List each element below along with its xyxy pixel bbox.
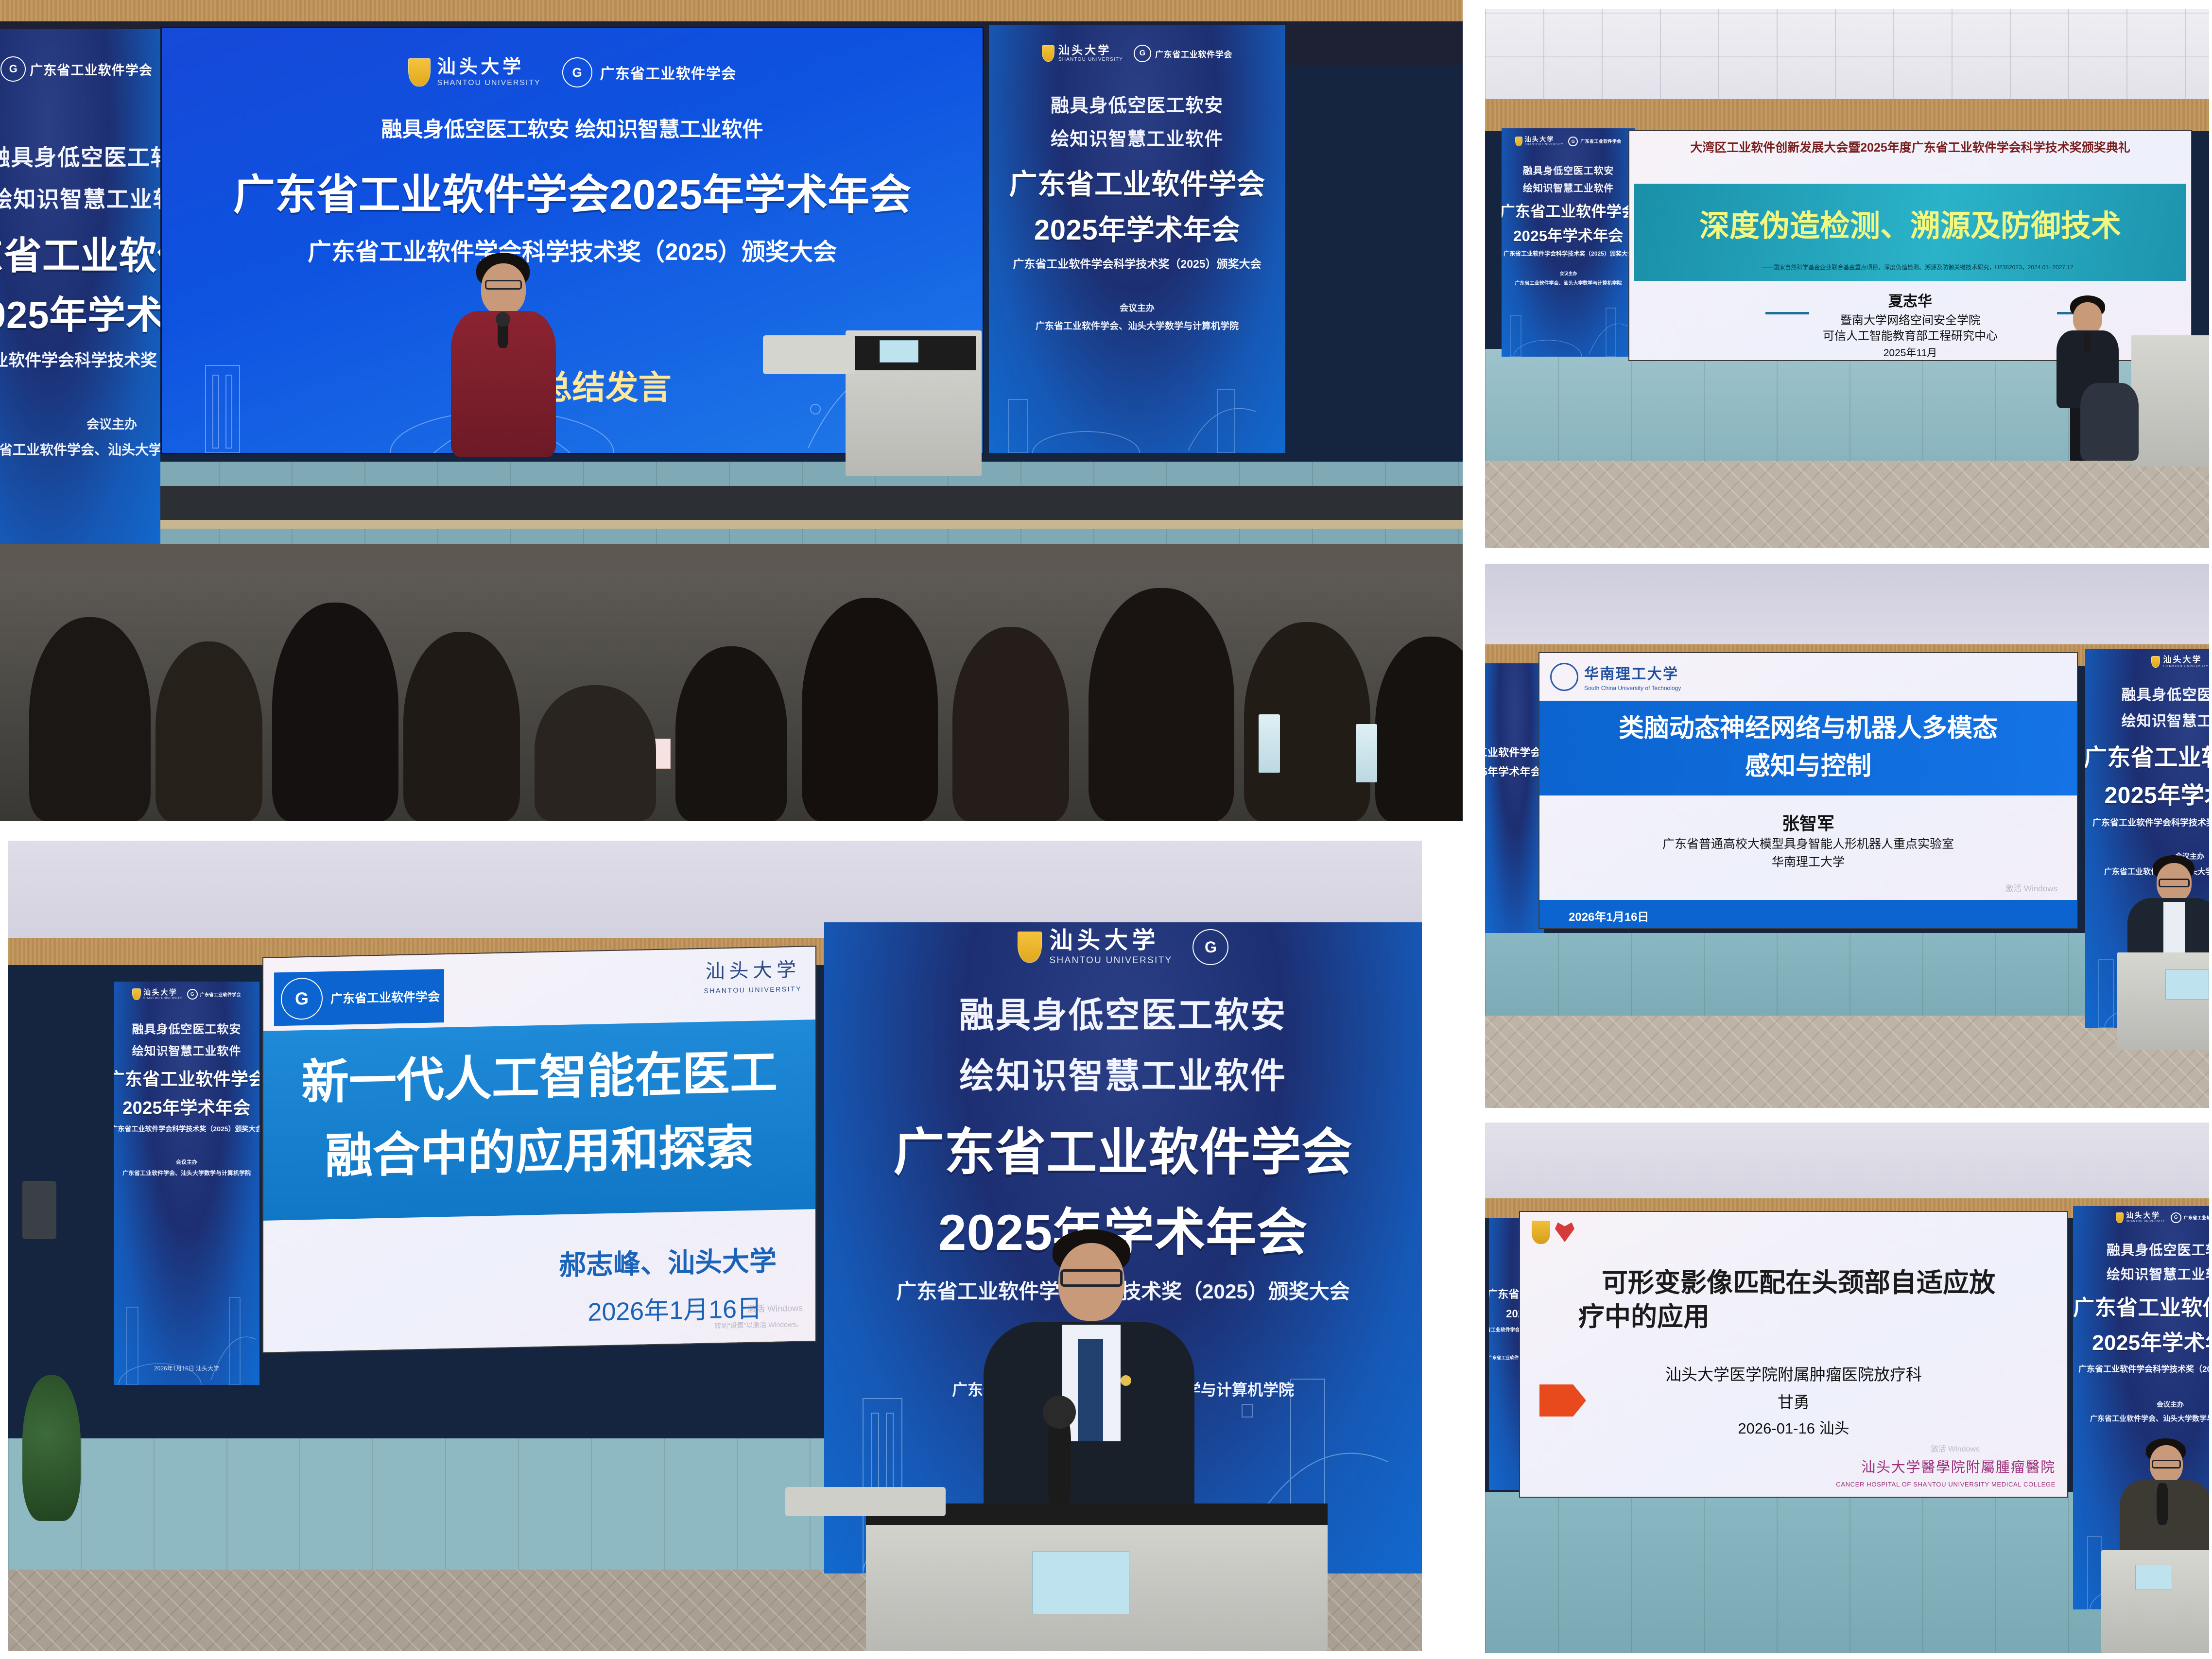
university-name-en: SHANTOU UNIVERSITY (704, 985, 802, 995)
shantou-logo: 汕头大学 SHANTOU UNIVERSITY (704, 954, 802, 995)
shantou-crest-icon (1042, 45, 1054, 62)
university-name-en: SHANTOU UNIVERSITY (143, 997, 182, 1000)
banner-title-2: 2025年学术年会 (122, 1094, 250, 1119)
scut-logo: 华南理工大学 South China University of Technol… (1550, 662, 1681, 691)
society-name: 广东省工业软件学会 (2184, 1214, 2209, 1221)
banner-subtitle: 广东省工业软件学会科学技术奖（2025）颁奖大会 (1013, 255, 1261, 271)
banner-title-1: 广东省工业软件学会 (1009, 161, 1265, 202)
slide-footnote: ——国家自然科学基金企业联合基金重点项目，深度伪造检测、溯源及防御关键技术研究，… (1663, 263, 2172, 271)
lectern-crest (2165, 969, 2209, 1000)
photo-deepfake-talk: 汕头大学 SHANTOU UNIVERSITY G 广东省工业软件学会 融具身低… (1485, 9, 2209, 548)
banner-slogan-2: 绘知识智慧工业软件 (2107, 1264, 2209, 1283)
lectern-crest (2135, 1565, 2172, 1590)
slide-speaker-name: 甘勇 (1520, 1389, 2067, 1413)
society-name: 广东省工业软件学会 (600, 62, 737, 83)
banner-slogan-2: 绘知识智慧工业软件 (2122, 709, 2209, 730)
banner-left: 汕头大学 SHANTOU UNIVERSITY G 广东省工业软件学会 融具身低… (114, 982, 259, 1385)
banner-host-label: 会议主办 (1120, 301, 1155, 314)
speaker-person (447, 253, 559, 457)
banner-title-1: 广东省工业软件学会 (1502, 199, 1635, 221)
photo-radiotherapy-talk: 广东省工业软件学会 2025年学术年会 广东省工业软件学会科学技术奖（2025）… (1485, 1123, 2209, 1653)
university-name-cn: 汕头大学 (437, 58, 541, 76)
shantou-crest-icon (2116, 1212, 2124, 1223)
photo-brain-nn-talk: 广东省工业软件学会 2025年学术年会 华南理工大学 South China U… (1485, 564, 2209, 1108)
banner-host-orgs: 广东省工业软件学会、汕头大学数学与计算机学院 (2090, 1413, 2209, 1423)
university-name-en: SHANTOU UNIVERSITY (2163, 665, 2208, 668)
society-mark-icon: G (2171, 1212, 2181, 1223)
windows-watermark: 激活 Windows (1931, 1445, 1980, 1455)
university-name-cn: 汕头大学 (143, 989, 182, 996)
audience-head (802, 598, 938, 821)
audience-head (272, 603, 398, 821)
ceiling (1485, 1123, 2209, 1200)
slide-ai-medical-main: G 广东省工业软件学会 汕头大学 SHANTOU UNIVERSITY 新一代人… (262, 946, 816, 1353)
audience-head (952, 627, 1069, 821)
banner-subtitle: 广东省工业软件学会科学技术奖（2025）颁奖大会 (114, 1124, 259, 1134)
lapel-pin (1121, 1375, 1131, 1386)
society-name: 广东省工业软件学会 (1580, 138, 1621, 144)
society-mark-icon: G (281, 977, 323, 1020)
photo-main-hall: G 广东省工业软件学会 融具身低空医工软安 绘知识智慧工业软件 广东省工业软件学… (0, 0, 1463, 821)
speaker-person (975, 1229, 1203, 1531)
banner-slogan-2: 绘知识智慧工业软件 (132, 1041, 242, 1058)
banner-title-1: 广东省工业软件学会 (2073, 1290, 2209, 1321)
university-name-en: SHANTOU UNIVERSITY (1058, 57, 1123, 62)
audience-head (675, 646, 787, 821)
skyline-graphic (989, 380, 1285, 453)
glasses-icon (2159, 879, 2190, 887)
skyline-graphic (1502, 303, 1635, 357)
wall-speaker (22, 1181, 56, 1239)
society-badge-label: 广东省工业软件学会 (330, 987, 440, 1007)
hospital-footer-en: CANCER HOSPITAL OF SHANTOU UNIVERSITY ME… (1836, 1481, 2056, 1488)
scut-name-cn: 华南理工大学 (1584, 662, 1681, 683)
slide-title-1: 可形变影像匹配在头颈部自适应放 (1578, 1265, 2019, 1301)
projector (763, 335, 855, 374)
university-name-cn: 汕头大学 (2126, 1212, 2165, 1219)
water-bottle (1259, 714, 1280, 773)
lectern (2117, 952, 2209, 1050)
side-banner-right: 汕头大学 SHANTOU UNIVERSITY G 广东省工业软件学会 融具身低… (989, 25, 1285, 453)
chair (2080, 383, 2139, 461)
microphone (2157, 1483, 2168, 1525)
glasses-icon (2152, 1460, 2181, 1469)
windows-watermark: 激活 Windows (2005, 883, 2057, 894)
shantou-crest-icon (1515, 137, 1522, 146)
banner-subtitle: 广东省工业软件学会科学技术奖（2025）颁奖大会 (1503, 249, 1633, 258)
glasses-icon (485, 280, 522, 290)
microphone-head (1043, 1396, 1076, 1429)
slide-title-2: 疗中的应用 (1578, 1299, 1873, 1335)
av-podium (2131, 335, 2209, 467)
slide-header: 大湾区工业软件创新发展大会暨2025年度广东省工业软件学会科学技术奖颁奖典礼 (1659, 140, 2162, 156)
society-badge: G 广东省工业软件学会 (274, 969, 444, 1026)
banner-host-orgs: 广东省工业软件学会、汕头大学数学与计算机学院 (122, 1169, 251, 1177)
banner-host-orgs: 广东省工业软件学会、汕头大学数学与计算机学院 (0, 439, 160, 459)
banner-slogan-2: 绘知识智慧工业软件 (1051, 124, 1224, 151)
banner-title-1: 广东省工业软件学会 (2085, 738, 2209, 772)
banner-title-2: 2025年学术年会 (2104, 776, 2209, 810)
society-mark-icon: G (1134, 45, 1151, 62)
banner-host-label: 会议主办 (2157, 1400, 2184, 1409)
banner-title-1: 广东省工业软件学会 (893, 1111, 1352, 1184)
slide-brain-nn: 华南理工大学 South China University of Technol… (1538, 652, 2078, 929)
head (2073, 302, 2102, 334)
slide-speaker-line: 郝志峰、汕头大学 (559, 1239, 777, 1283)
banner-subtitle: 广东省工业软件学会科学技术奖（2025）颁奖大会 (2092, 816, 2209, 829)
led-title: 广东省工业软件学会2025年学术年会 (233, 160, 911, 221)
banner-slogan-2: 绘知识智慧工业软件 (0, 182, 160, 214)
slide-radiotherapy: 可形变影像匹配在头颈部自适应放 疗中的应用 汕头大学医学院附属肿瘤医院放疗科 甘… (1519, 1211, 2068, 1498)
banner-slogan-2: 绘知识智慧工业软件 (1523, 180, 1614, 194)
society-mark-icon: G (1192, 929, 1228, 965)
slide-title: 深度伪造检测、溯源及防御技术 (1634, 207, 2186, 246)
slide-date: 2026年1月16日 (1569, 907, 1649, 924)
hospital-footer-cn: 汕头大学醫學院附屬腫瘤醫院 (1861, 1456, 2056, 1476)
banner-subtitle: 广东省工业软件学会科学技术奖（2025）颁奖大会 (0, 347, 160, 371)
society-name: 广东省工业软件学会 (200, 991, 241, 998)
university-name-cn: 汕头大学 (1058, 45, 1123, 56)
slide-title-1: 类脑动态神经网络与机器人多模态 (1539, 701, 2077, 745)
university-name-cn: 汕头大学 (1050, 929, 1173, 952)
banner-slogan-1: 融具身低空医工软安 (959, 986, 1287, 1037)
banner-slogan-1: 融具身低空医工软安 (2107, 1240, 2209, 1259)
led-slogan: 融具身低空医工软安 绘知识智慧工业软件 (381, 113, 763, 143)
shantou-crest-icon (1532, 1221, 1550, 1244)
society-name: 广东省工业软件学会 (1155, 48, 1232, 60)
banner-host-orgs: 广东省工业软件学会、汕头大学数学与计算机学院 (1515, 279, 1622, 286)
audience-head (403, 632, 520, 821)
glasses-icon (1060, 1269, 1123, 1287)
university-name-cn: 汕头大学 (1524, 136, 1563, 142)
banner-slogan-1: 融具身低空医工软安 (1523, 163, 1614, 177)
banner-title-2: 2025年学术年会 (1513, 224, 1624, 245)
heart-logo-icon (1555, 1221, 1574, 1242)
wood-trim (1485, 99, 2209, 131)
audience-head (29, 617, 151, 821)
society-name: 广东省工业软件学会 (30, 60, 153, 79)
banner-title-fragment-2: 2025年学术年会 (1485, 763, 1541, 779)
wood-trim (0, 0, 1463, 21)
lectern-crest (1032, 1551, 1129, 1614)
banner-left: 汕头大学 SHANTOU UNIVERSITY G 广东省工业软件学会 融具身低… (1502, 128, 1635, 357)
banner-left-strip: 广东省工业软件学会 2025年学术年会 (1485, 663, 1544, 933)
audience-table (0, 544, 1463, 573)
audience-head (1089, 588, 1234, 821)
slide-org: 汕头大学医学院附属肿瘤医院放疗科 (1520, 1363, 2067, 1387)
slide-title-band: 类脑动态神经网络与机器人多模态 感知与控制 (1539, 701, 2077, 795)
photo-ai-medical-talk: 汕头大学 SHANTOU UNIVERSITY G 广东省工业软件学会 融具身低… (8, 841, 1422, 1651)
water-bottle (1356, 724, 1377, 782)
society-mark-icon: G (187, 989, 198, 1000)
banner-host-label: 会议主办 (86, 415, 137, 432)
photo-collage: G 广东省工业软件学会 融具身低空医工软安 绘知识智慧工业软件 广东省工业软件学… (0, 0, 2212, 1659)
banner-title-1: 广东省工业软件学会 (0, 225, 160, 280)
slide-org-2: 华南理工大学 (1539, 853, 2077, 872)
banner-title-2: 2025年学术年会 (1034, 207, 1240, 248)
windows-watermark-line2: 转到“设置”以激活 Windows。 (714, 1319, 803, 1330)
audience-head (156, 641, 262, 821)
slide-date: 2026-01-16 汕头 (1520, 1416, 2067, 1438)
university-name-en: SHANTOU UNIVERSITY (1050, 956, 1173, 965)
audience-head (535, 685, 656, 821)
university-name-cn: 汕头大学 (2163, 656, 2208, 664)
university-name-en: SHANTOU UNIVERSITY (2126, 1220, 2165, 1223)
ceiling (1485, 564, 2209, 646)
slide-title-1: 新一代人工智能在医工 (263, 1020, 815, 1114)
banner-title-1: 广东省工业软件学会 (114, 1065, 259, 1090)
banner-host-orgs: 广东省工业软件学会、汕头大学数学与计算机学院 (1036, 319, 1239, 332)
side-banner-left-partial: G 广东省工业软件学会 融具身低空医工软安 绘知识智慧工业软件 广东省工业软件学… (0, 29, 160, 554)
arrow-left-icon (1765, 312, 1809, 314)
slide-title-band: 新一代人工智能在医工 融合中的应用和探索 (263, 1020, 815, 1221)
banner-venue-date: 2026年1月16日 汕头大学 (114, 1364, 259, 1372)
banner-slogan-1: 融具身低空医工软安 (132, 1020, 242, 1037)
university-name-cn: 汕头大学 (704, 954, 802, 984)
hospital-logos (1532, 1221, 1574, 1244)
scut-name-en: South China University of Technology (1584, 685, 1681, 691)
microphone-head (496, 312, 510, 327)
shantou-crest-icon (2151, 656, 2160, 668)
shantou-crest-icon (1018, 932, 1042, 963)
potted-plant (22, 1375, 81, 1521)
banner-title-2: 2025年学术年会 (2092, 1325, 2209, 1356)
slide-speaker-name: 张智军 (1539, 810, 2077, 835)
banner-title-2: 2025年学术年会 (0, 285, 160, 339)
necktie (1078, 1339, 1103, 1441)
slide-footer-band: 2026年1月16日 (1539, 900, 2077, 928)
banner-host-label: 会议主办 (176, 1158, 197, 1166)
slide-title-2: 感知与控制 (1539, 745, 2077, 783)
slide-title-2: 融合中的应用和探索 (263, 1103, 815, 1189)
banner-title-fragment-1: 广东省工业软件学会 (1485, 744, 1541, 760)
desk-surface (785, 1487, 946, 1516)
university-name-en: SHANTOU UNIVERSITY (1524, 143, 1563, 146)
banner-slogan-1: 融具身低空医工软安 (0, 140, 160, 172)
society-mark-icon: G (562, 57, 592, 87)
shantou-crest-icon (408, 58, 431, 86)
windows-watermark-line1: 激活 Windows (747, 1302, 803, 1315)
banner-slogan-1: 融具身低空医工软安 (1051, 90, 1224, 117)
slide-teal-band: 深度伪造检测、溯源及防御技术 ——国家自然科学基金企业联合基金重点项目，深度伪造… (1634, 184, 2186, 281)
led-subtitle: 广东省工业软件学会科学技术奖（2025）颁奖大会 (308, 233, 837, 267)
banner-host-label: 会议主办 (1559, 270, 1577, 276)
podium-crest (880, 340, 918, 363)
banner-slogan-2: 绘知识智慧工业软件 (959, 1047, 1287, 1098)
society-mark-icon: G (0, 56, 26, 82)
microphone (2084, 333, 2091, 353)
university-name-en: SHANTOU UNIVERSITY (437, 79, 541, 87)
banner-slogan-1: 融具身低空医工软安 (2122, 683, 2209, 704)
shirt (2163, 902, 2185, 960)
banner-subtitle: 广东省工业软件学会科学技术奖（2025）颁奖大会 (2078, 1362, 2209, 1374)
shantou-crest-icon (132, 988, 141, 1000)
society-mark-icon: G (1568, 137, 1578, 146)
slide-org-1: 广东省普通高校大模型具身智能人形机器人重点实验室 (1539, 835, 2077, 854)
